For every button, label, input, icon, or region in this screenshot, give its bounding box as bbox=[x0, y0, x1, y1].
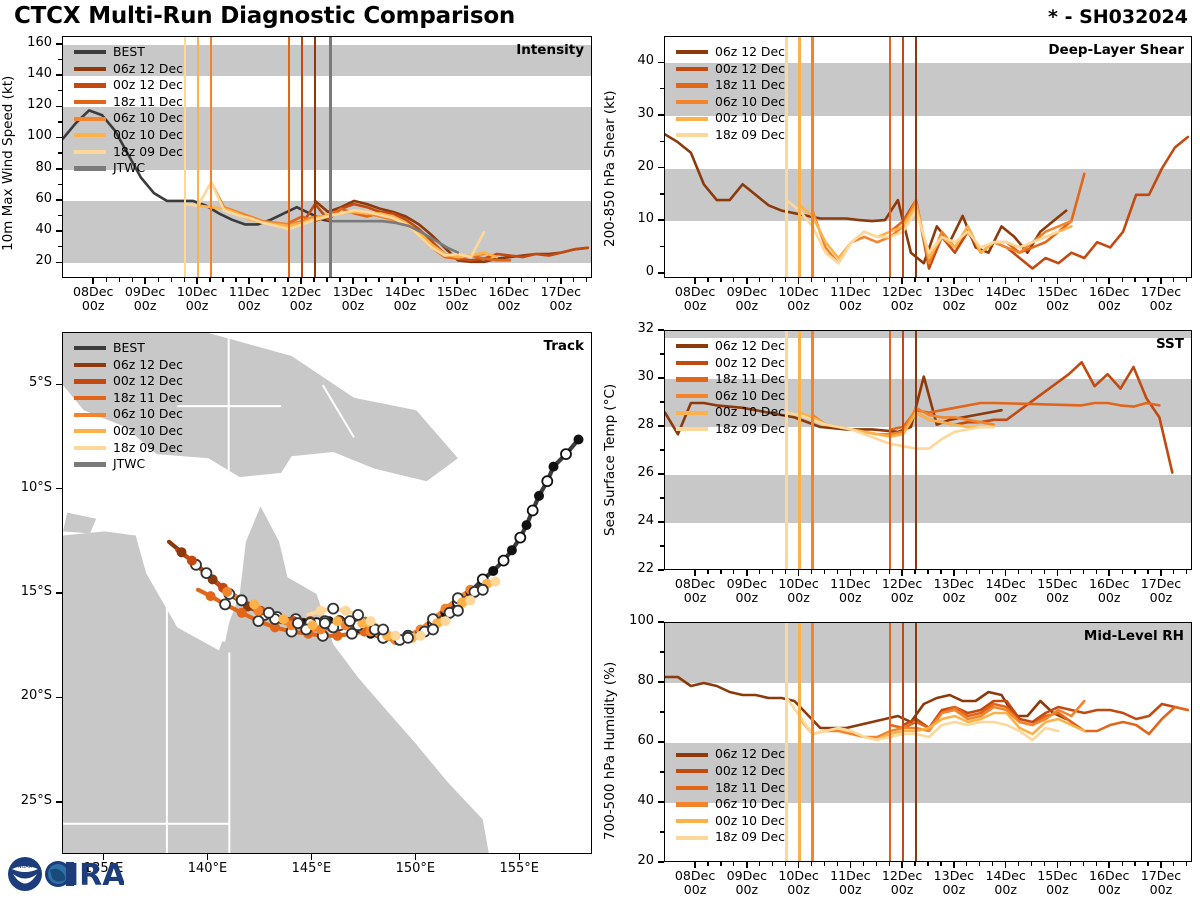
legend-entry: 18z 09 Dec bbox=[676, 127, 785, 144]
x-tick-date: 14Dec bbox=[985, 868, 1025, 883]
legend-color-swatch bbox=[676, 361, 708, 365]
legend-entry: 18z 11 Dec bbox=[676, 77, 785, 94]
y-tick-mark bbox=[658, 621, 664, 623]
y-minor-tick bbox=[660, 651, 664, 652]
legend-label: 06z 12 Dec bbox=[113, 359, 183, 371]
legend-color-swatch bbox=[74, 67, 106, 71]
x-minor-tick bbox=[785, 862, 786, 866]
legend-label: BEST bbox=[113, 46, 145, 58]
init-time-line bbox=[785, 623, 787, 861]
x-tick-hour: 00z bbox=[1046, 882, 1069, 897]
legend-label: 06z 12 Dec bbox=[715, 46, 785, 58]
x-minor-tick bbox=[889, 862, 890, 866]
legend-entry: 18z 11 Dec bbox=[74, 94, 183, 111]
legend-color-swatch bbox=[74, 379, 106, 383]
x-tick-date: 10Dec bbox=[778, 868, 818, 883]
x-tick-date: 13Dec bbox=[934, 868, 974, 883]
legend-entry: 00z 10 Dec bbox=[74, 127, 183, 144]
init-time-line bbox=[811, 623, 813, 861]
x-tick-hour: 00z bbox=[943, 882, 966, 897]
legend-entry: 18z 11 Dec bbox=[676, 780, 785, 797]
x-tick-date: 17Dec bbox=[1141, 868, 1181, 883]
plot-title-rh: Mid-Level RH bbox=[1084, 628, 1184, 644]
x-minor-tick bbox=[759, 862, 760, 866]
legend-label: 00z 10 Dec bbox=[113, 425, 183, 437]
legend-color-swatch bbox=[676, 786, 708, 790]
legend-label: 06z 12 Dec bbox=[715, 748, 785, 760]
legend-entry: 18z 09 Dec bbox=[74, 144, 183, 161]
legend-label: JTWC bbox=[113, 458, 145, 470]
init-time-line bbox=[915, 623, 917, 861]
legend-entry: 00z 10 Dec bbox=[676, 110, 785, 127]
legend-entry: 18z 11 Dec bbox=[74, 390, 183, 407]
x-minor-tick bbox=[811, 862, 812, 866]
legend-label: 06z 10 Dec bbox=[113, 408, 183, 420]
x-minor-tick bbox=[1083, 862, 1084, 866]
plot-title-intensity: Intensity bbox=[516, 42, 584, 58]
legend-color-swatch bbox=[74, 50, 106, 54]
legend-color-swatch bbox=[676, 50, 708, 54]
legend-entry: 00z 10 Dec bbox=[676, 813, 785, 830]
legend-entry: 18z 09 Dec bbox=[74, 440, 183, 457]
legend-color-swatch bbox=[676, 344, 708, 348]
legend-entry: 06z 10 Dec bbox=[676, 388, 785, 405]
legend-color-swatch bbox=[74, 396, 106, 400]
x-minor-tick bbox=[927, 862, 928, 866]
legend-color-swatch bbox=[74, 363, 106, 367]
noaa-cira-logo: NOAA IRA bbox=[6, 852, 124, 896]
legend-color-swatch bbox=[676, 819, 708, 823]
legend-label: 18z 09 Dec bbox=[715, 423, 785, 435]
x-tick-hour: 00z bbox=[994, 882, 1017, 897]
legend-entry: 00z 12 Dec bbox=[74, 77, 183, 94]
cira-logo-icon: NOAA IRA bbox=[6, 852, 124, 896]
legend-entry: JTWC bbox=[74, 456, 183, 473]
legend-entry: 00z 12 Dec bbox=[676, 61, 785, 78]
legend-entry: 00z 12 Dec bbox=[74, 373, 183, 390]
y-tick-mark bbox=[658, 681, 664, 683]
legend-label: 00z 12 Dec bbox=[113, 375, 183, 387]
legend-color-swatch bbox=[74, 462, 106, 466]
legend-label: 18z 09 Dec bbox=[715, 831, 785, 843]
x-minor-tick bbox=[863, 862, 864, 866]
legend-entry: 06z 12 Dec bbox=[74, 61, 183, 78]
legend-label: 00z 12 Dec bbox=[715, 63, 785, 75]
legend-label: 06z 10 Dec bbox=[113, 112, 183, 124]
plot-title-shear: Deep-Layer Shear bbox=[1048, 42, 1184, 58]
legend-entry: 00z 10 Dec bbox=[676, 404, 785, 421]
legend-color-swatch bbox=[676, 836, 708, 840]
x-minor-tick bbox=[876, 862, 877, 866]
x-minor-tick bbox=[1018, 862, 1019, 866]
legend-color-swatch bbox=[676, 67, 708, 71]
legend-label: 18z 11 Dec bbox=[113, 96, 183, 108]
legend-entry: 00z 12 Dec bbox=[676, 355, 785, 372]
x-minor-tick bbox=[1173, 862, 1174, 866]
x-tick-date: 12Dec bbox=[882, 868, 922, 883]
x-tick-date: 08Dec bbox=[675, 868, 715, 883]
diagnostic-comparison-page: CTCX Multi-Run Diagnostic Comparison * -… bbox=[0, 0, 1200, 900]
y-tick-mark bbox=[658, 741, 664, 743]
x-tick-hour: 00z bbox=[684, 882, 707, 897]
legend-entry: 06z 10 Dec bbox=[676, 796, 785, 813]
cira-wordmark-icon: IRA bbox=[45, 858, 124, 893]
x-minor-tick bbox=[914, 862, 915, 866]
legend-color-swatch bbox=[676, 769, 708, 773]
x-minor-tick bbox=[1096, 862, 1097, 866]
legend-entry: 06z 10 Dec bbox=[676, 94, 785, 111]
legend-label: 00z 10 Dec bbox=[715, 815, 785, 827]
legend-color-swatch bbox=[676, 117, 708, 121]
y-minor-tick bbox=[660, 831, 664, 832]
legend-color-swatch bbox=[74, 133, 106, 137]
x-minor-tick bbox=[966, 862, 967, 866]
x-minor-tick bbox=[992, 862, 993, 866]
legend-shear: 06z 12 Dec00z 12 Dec18z 11 Dec06z 10 Dec… bbox=[676, 44, 785, 144]
init-time-line bbox=[902, 623, 904, 861]
legend-color-swatch bbox=[676, 753, 708, 757]
legend-rh: 06z 12 Dec00z 12 Dec18z 11 Dec06z 10 Dec… bbox=[676, 746, 785, 846]
legend-color-swatch bbox=[74, 446, 106, 450]
legend-color-swatch bbox=[74, 83, 106, 87]
legend-color-swatch bbox=[74, 166, 106, 170]
legend-color-swatch bbox=[676, 100, 708, 104]
legend-label: 00z 12 Dec bbox=[715, 357, 785, 369]
legend-label: 18z 09 Dec bbox=[113, 442, 183, 454]
x-tick-hour: 00z bbox=[1150, 882, 1173, 897]
legend-color-swatch bbox=[676, 83, 708, 87]
x-minor-tick bbox=[1044, 862, 1045, 866]
x-minor-tick bbox=[1031, 862, 1032, 866]
legend-entry: 06z 12 Dec bbox=[676, 746, 785, 763]
x-minor-tick bbox=[1147, 862, 1148, 866]
x-minor-tick bbox=[733, 862, 734, 866]
noaa-seal-icon: NOAA bbox=[8, 857, 42, 891]
legend-color-swatch bbox=[676, 133, 708, 137]
x-minor-tick bbox=[1070, 862, 1071, 866]
legend-label: 00z 12 Dec bbox=[113, 79, 183, 91]
x-minor-tick bbox=[772, 862, 773, 866]
legend-color-swatch bbox=[74, 100, 106, 104]
legend-label: 18z 11 Dec bbox=[715, 79, 785, 91]
y-tick-mark bbox=[658, 801, 664, 803]
x-tick-date: 16Dec bbox=[1089, 868, 1129, 883]
series-line bbox=[665, 677, 1066, 728]
x-minor-tick bbox=[1122, 862, 1123, 866]
y-axis-label-rh: 700-500 hPa Humidity (%) bbox=[602, 662, 618, 840]
legend-entry: 06z 10 Dec bbox=[74, 406, 183, 423]
x-tick-date: 15Dec bbox=[1037, 868, 1077, 883]
legend-color-swatch bbox=[74, 150, 106, 154]
legend-label: 18z 11 Dec bbox=[715, 373, 785, 385]
legend-entry: 06z 12 Dec bbox=[74, 357, 183, 374]
y-tick-label: 20 bbox=[606, 853, 654, 868]
legend-entry: 18z 09 Dec bbox=[676, 421, 785, 438]
legend-entry: 06z 12 Dec bbox=[676, 338, 785, 355]
legend-label: 06z 10 Dec bbox=[715, 390, 785, 402]
x-tick-label: 17Dec00z bbox=[1127, 869, 1195, 898]
legend-color-swatch bbox=[676, 802, 708, 806]
x-minor-tick bbox=[940, 862, 941, 866]
plot-title-sst: SST bbox=[1156, 336, 1184, 352]
legend-label: 18z 11 Dec bbox=[113, 392, 183, 404]
x-tick-date: 09Dec bbox=[727, 868, 767, 883]
init-time-line bbox=[889, 623, 891, 861]
legend-entry: BEST bbox=[74, 340, 183, 357]
legend-label: 18z 09 Dec bbox=[113, 146, 183, 158]
y-tick-mark bbox=[658, 861, 664, 863]
x-minor-tick bbox=[837, 862, 838, 866]
legend-color-swatch bbox=[74, 117, 106, 121]
legend-color-swatch bbox=[74, 429, 106, 433]
legend-entry: JTWC bbox=[74, 160, 183, 177]
legend-color-swatch bbox=[74, 413, 106, 417]
legend-entry: 00z 12 Dec bbox=[676, 763, 785, 780]
x-tick-hour: 00z bbox=[839, 882, 862, 897]
legend-entry: 06z 12 Dec bbox=[676, 44, 785, 61]
legend-entry: 00z 10 Dec bbox=[74, 423, 183, 440]
y-minor-tick bbox=[660, 771, 664, 772]
legend-label: 00z 12 Dec bbox=[715, 765, 785, 777]
legend-label: 00z 10 Dec bbox=[113, 129, 183, 141]
y-tick-label: 100 bbox=[606, 613, 654, 628]
svg-text:IRA: IRA bbox=[68, 858, 124, 893]
x-minor-tick bbox=[720, 862, 721, 866]
legend-entry: BEST bbox=[74, 44, 183, 61]
legend-color-swatch bbox=[676, 377, 708, 381]
x-minor-tick bbox=[979, 862, 980, 866]
x-minor-tick bbox=[1186, 862, 1187, 866]
legend-label: 06z 10 Dec bbox=[715, 798, 785, 810]
legend-sst: 06z 12 Dec00z 12 Dec18z 11 Dec06z 10 Dec… bbox=[676, 338, 785, 438]
x-tick-date: 11Dec bbox=[830, 868, 870, 883]
legend-label: 00z 10 Dec bbox=[715, 112, 785, 124]
x-minor-tick bbox=[824, 862, 825, 866]
legend-label: 00z 10 Dec bbox=[715, 406, 785, 418]
legend-label: 18z 09 Dec bbox=[715, 129, 785, 141]
svg-text:NOAA: NOAA bbox=[18, 864, 33, 870]
legend-color-swatch bbox=[676, 411, 708, 415]
legend-intensity: BEST06z 12 Dec00z 12 Dec18z 11 Dec06z 10… bbox=[74, 44, 183, 177]
legend-entry: 06z 10 Dec bbox=[74, 110, 183, 127]
x-tick-hour: 00z bbox=[787, 882, 810, 897]
init-time-line bbox=[798, 623, 800, 861]
legend-label: 06z 10 Dec bbox=[715, 96, 785, 108]
x-minor-tick bbox=[707, 862, 708, 866]
x-minor-tick bbox=[1134, 862, 1135, 866]
x-tick-hour: 00z bbox=[1098, 882, 1121, 897]
x-tick-hour: 00z bbox=[891, 882, 914, 897]
legend-color-swatch bbox=[676, 394, 708, 398]
legend-label: 18z 11 Dec bbox=[715, 782, 785, 794]
legend-color-swatch bbox=[676, 427, 708, 431]
legend-label: BEST bbox=[113, 342, 145, 354]
legend-label: 06z 12 Dec bbox=[715, 340, 785, 352]
legend-track: BEST06z 12 Dec00z 12 Dec18z 11 Dec06z 10… bbox=[74, 340, 183, 473]
legend-color-swatch bbox=[74, 346, 106, 350]
legend-label: 06z 12 Dec bbox=[113, 63, 183, 75]
legend-label: JTWC bbox=[113, 162, 145, 174]
legend-entry: 18z 11 Dec bbox=[676, 371, 785, 388]
y-minor-tick bbox=[660, 711, 664, 712]
legend-entry: 18z 09 Dec bbox=[676, 829, 785, 846]
plot-title-track: Track bbox=[544, 338, 584, 354]
x-tick-hour: 00z bbox=[735, 882, 758, 897]
